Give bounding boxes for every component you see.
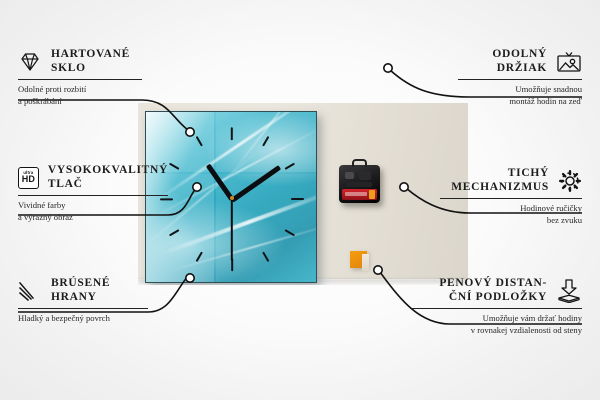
picture-frame-icon (556, 51, 582, 72)
feature-divider (18, 79, 142, 80)
feature-title-line2: SKLO (51, 62, 130, 76)
connector-dot-mechanism (400, 183, 408, 191)
feature-high-quality-print: ultra HD VYSOKOKVALITNÝ TLAČ Vividné far… (18, 164, 168, 223)
feature-desc-line2: v rovnakej vzdialenosti od steny (410, 325, 582, 336)
feature-title-line1: TICHÝ (451, 167, 549, 181)
feature-desc-line2: montáž hodin na zeď (458, 96, 582, 107)
feature-desc-line1: Umožňuje vám držať hodiny (410, 313, 582, 324)
feature-foam-pads: PENOVÝ DISTAN- ČNÍ PODLOŽKY Umožňuje vám… (410, 277, 582, 336)
feature-desc-line1: Vividné farby (18, 200, 168, 211)
feature-desc-line1: Umožňuje snadnou (458, 84, 582, 95)
feature-title-line2: HRANY (51, 291, 110, 305)
feature-divider (440, 198, 582, 199)
feature-title-line1: BRÚSENÉ (51, 277, 110, 291)
connector-dot-edges (186, 274, 194, 282)
feature-quiet-mechanism: TICHÝ MECHANIZMUS Hodinové ručičky bez z… (440, 167, 582, 226)
feature-divider (458, 79, 582, 80)
feature-tempered-glass: HARTOVANÉ SKLO Odolné proti rozbití a po… (18, 48, 142, 107)
feature-divider (18, 308, 148, 309)
connector-dot-glass (186, 128, 194, 136)
feature-desc-line1: Hodinové ručičky (440, 203, 582, 214)
feature-desc-line2: a výrazný obraz (18, 212, 168, 223)
feature-desc-line1: Hladký a bezpečný povrch (18, 313, 148, 324)
connector-dot-holder (384, 64, 392, 72)
feature-title-line1: HARTOVANÉ (51, 48, 130, 62)
feature-polished-edges: BRÚSENÉ HRANY Hladký a bezpečný povrch (18, 277, 148, 325)
feature-title-line2: TLAČ (48, 178, 168, 192)
feature-title-line2: DRŽIAK (492, 62, 547, 76)
feature-divider (410, 308, 582, 309)
feature-desc-line1: Odolné proti rozbití (18, 84, 142, 95)
connector-dot-print (193, 183, 201, 191)
foam-pad-arrow-icon (556, 279, 582, 303)
polished-edges-icon (18, 280, 42, 301)
ultra-hd-icon: ultra HD (18, 167, 39, 189)
feature-title-line2: MECHANIZMUS (451, 181, 549, 195)
feature-desc-line2: bez zvuku (440, 215, 582, 226)
diamond-icon (18, 52, 42, 72)
feature-divider (18, 195, 168, 196)
feature-title-line1: ODOLNÝ (492, 48, 547, 62)
feature-durable-holder: ODOLNÝ DRŽIAK Umožňuje snadnou montáž ho… (458, 48, 582, 107)
ultra-hd-icon-main: HD (22, 175, 35, 185)
feature-title-line1: VYSOKOKVALITNÝ (48, 164, 168, 178)
feature-title-line2: ČNÍ PODLOŽKY (439, 291, 547, 305)
connector-dot-foam (374, 266, 382, 274)
gear-icon (558, 169, 582, 193)
infographic-stage: HARTOVANÉ SKLO Odolné proti rozbití a po… (0, 0, 600, 400)
feature-title-line1: PENOVÝ DISTAN- (439, 277, 547, 291)
feature-desc-line2: a poškrábání (18, 96, 142, 107)
